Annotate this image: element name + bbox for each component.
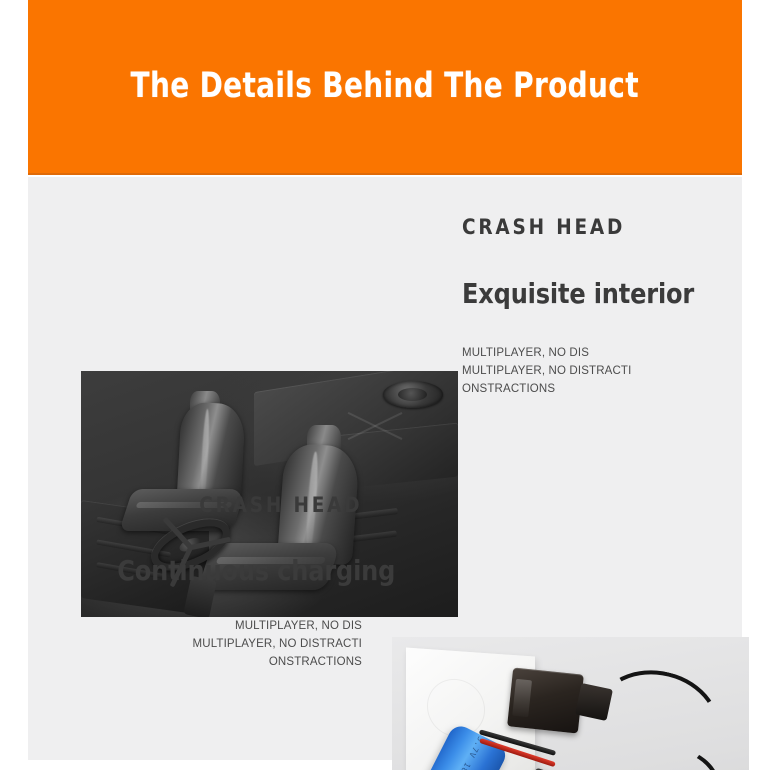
charging-headline: Continuous charging [117, 557, 395, 585]
body-line: MULTIPLAYER, NO DIS [72, 617, 362, 635]
product-detail-page: The Details Behind The Product [0, 0, 770, 770]
body-line: ONSTRACTIONS [462, 380, 732, 398]
body-line: MULTIPLAYER, NO DISTRACTI [72, 635, 362, 653]
page-title: The Details Behind The Product [131, 69, 639, 104]
speaker-grille [383, 381, 443, 408]
body-line: MULTIPLAYER, NO DISTRACTI [462, 362, 732, 380]
speaker-inner [398, 388, 427, 401]
content-panel: CRASH HEAD Exquisite interior MULTIPLAYE… [28, 177, 742, 760]
interior-text-block: CRASH HEAD Exquisite interior MULTIPLAYE… [462, 217, 732, 398]
interior-kicker: CRASH HEAD [462, 217, 700, 238]
charging-body: MULTIPLAYER, NO DIS MULTIPLAYER, NO DIST… [72, 617, 362, 671]
interior-headline: Exquisite interior [462, 280, 694, 308]
body-line: ONSTRACTIONS [72, 653, 362, 671]
usb-connector [507, 668, 584, 734]
charging-photo: 3.7V 18650 Li-ion [392, 637, 749, 770]
interior-body: MULTIPLAYER, NO DIS MULTIPLAYER, NO DIST… [462, 344, 732, 398]
body-line: MULTIPLAYER, NO DIS [462, 344, 732, 362]
charging-kicker: CRASH HEAD [199, 495, 362, 516]
charging-text-block: CRASH HEAD Continuous charging MULTIPLAY… [72, 495, 362, 671]
header-banner: The Details Behind The Product [28, 0, 742, 175]
